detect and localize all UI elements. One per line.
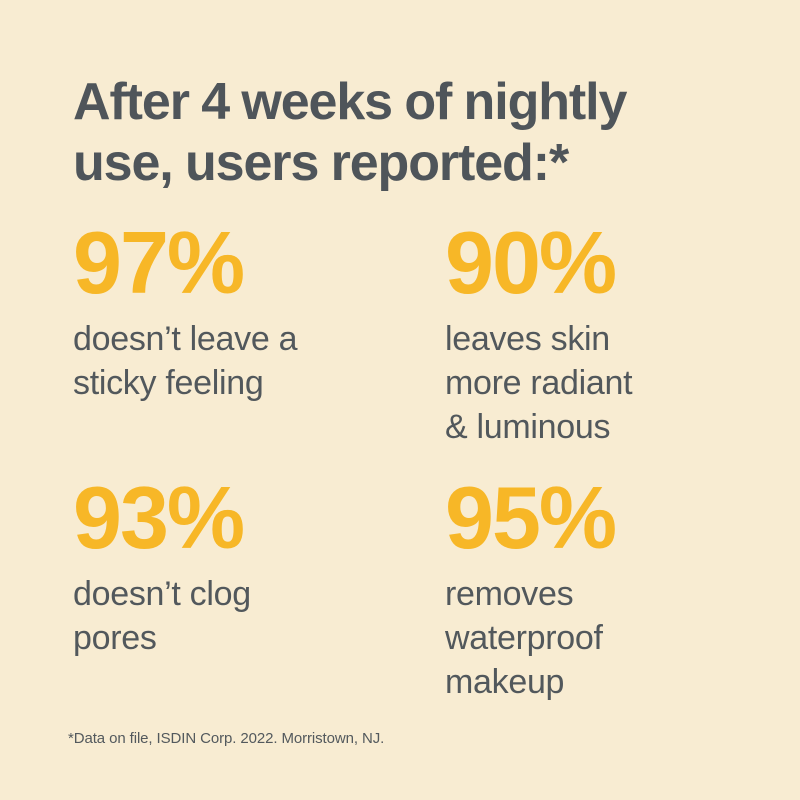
stat-value-90: 90% (445, 220, 740, 306)
stat-value-97: 97% (73, 220, 445, 306)
stat-label-line: doesn’t clog (73, 572, 445, 616)
stat-label-line: waterproof (445, 616, 740, 660)
stat-block-97: 97% doesn’t leave a sticky feeling (73, 220, 445, 475)
stat-label-95: removes waterproof makeup (445, 561, 740, 704)
stat-label-97: doesn’t leave a sticky feeling (73, 306, 445, 405)
stat-label-line: doesn’t leave a (73, 317, 445, 361)
stat-label-line: & luminous (445, 405, 740, 449)
stats-infographic: After 4 weeks of nightly use, users repo… (0, 0, 800, 800)
stat-label-93: doesn’t clog pores (73, 561, 445, 660)
stat-block-93: 93% doesn’t clog pores (73, 475, 445, 704)
stat-label-line: makeup (445, 660, 740, 704)
stat-block-90: 90% leaves skin more radiant & luminous (445, 220, 740, 475)
stat-label-line: more radiant (445, 361, 740, 405)
stat-label-line: sticky feeling (73, 361, 445, 405)
stat-value-95: 95% (445, 475, 740, 561)
stat-label-line: removes (445, 572, 740, 616)
stats-grid: 97% doesn’t leave a sticky feeling 90% l… (73, 220, 740, 704)
stat-value-93: 93% (73, 475, 445, 561)
page-title: After 4 weeks of nightly use, users repo… (73, 0, 713, 194)
stat-label-line: leaves skin (445, 317, 740, 361)
headline-line-2: use, users reported:* (73, 133, 713, 194)
stat-label-line: pores (73, 616, 445, 660)
footnote: *Data on file, ISDIN Corp. 2022. Morrist… (68, 729, 384, 749)
stat-label-90: leaves skin more radiant & luminous (445, 306, 740, 449)
stat-block-95: 95% removes waterproof makeup (445, 475, 740, 704)
headline-line-1: After 4 weeks of nightly (73, 72, 713, 133)
